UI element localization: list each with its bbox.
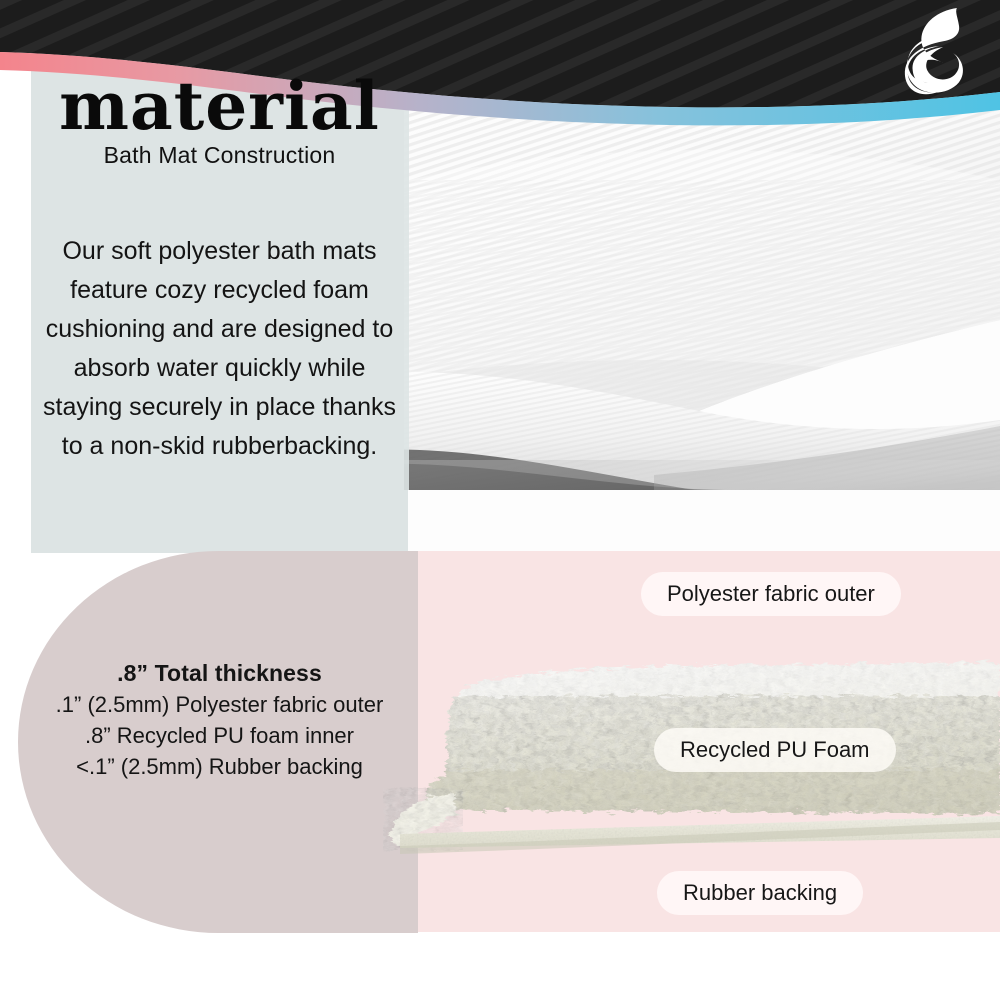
callout-polyester-fabric-outer: Polyester fabric outer — [641, 572, 901, 616]
spec-layer-foam: .8” Recycled PU foam inner — [41, 720, 398, 751]
spec-layer-rubber: <.1” (2.5mm) Rubber backing — [41, 751, 398, 782]
callout-recycled-pu-foam: Recycled PU Foam — [654, 728, 896, 772]
thickness-spec-block: .8” Total thickness .1” (2.5mm) Polyeste… — [41, 657, 398, 782]
callout-rubber-backing: Rubber backing — [657, 871, 863, 915]
page-subtitle: Bath Mat Construction — [31, 142, 408, 169]
spec-total-thickness: .8” Total thickness — [41, 657, 398, 689]
infographic-page: material Bath Mat Construction Our soft … — [0, 0, 1000, 1000]
spec-layer-outer: .1” (2.5mm) Polyester fabric outer — [41, 689, 398, 720]
page-title: material — [31, 72, 408, 140]
body-copy: Our soft polyester bath mats feature coz… — [41, 232, 398, 466]
